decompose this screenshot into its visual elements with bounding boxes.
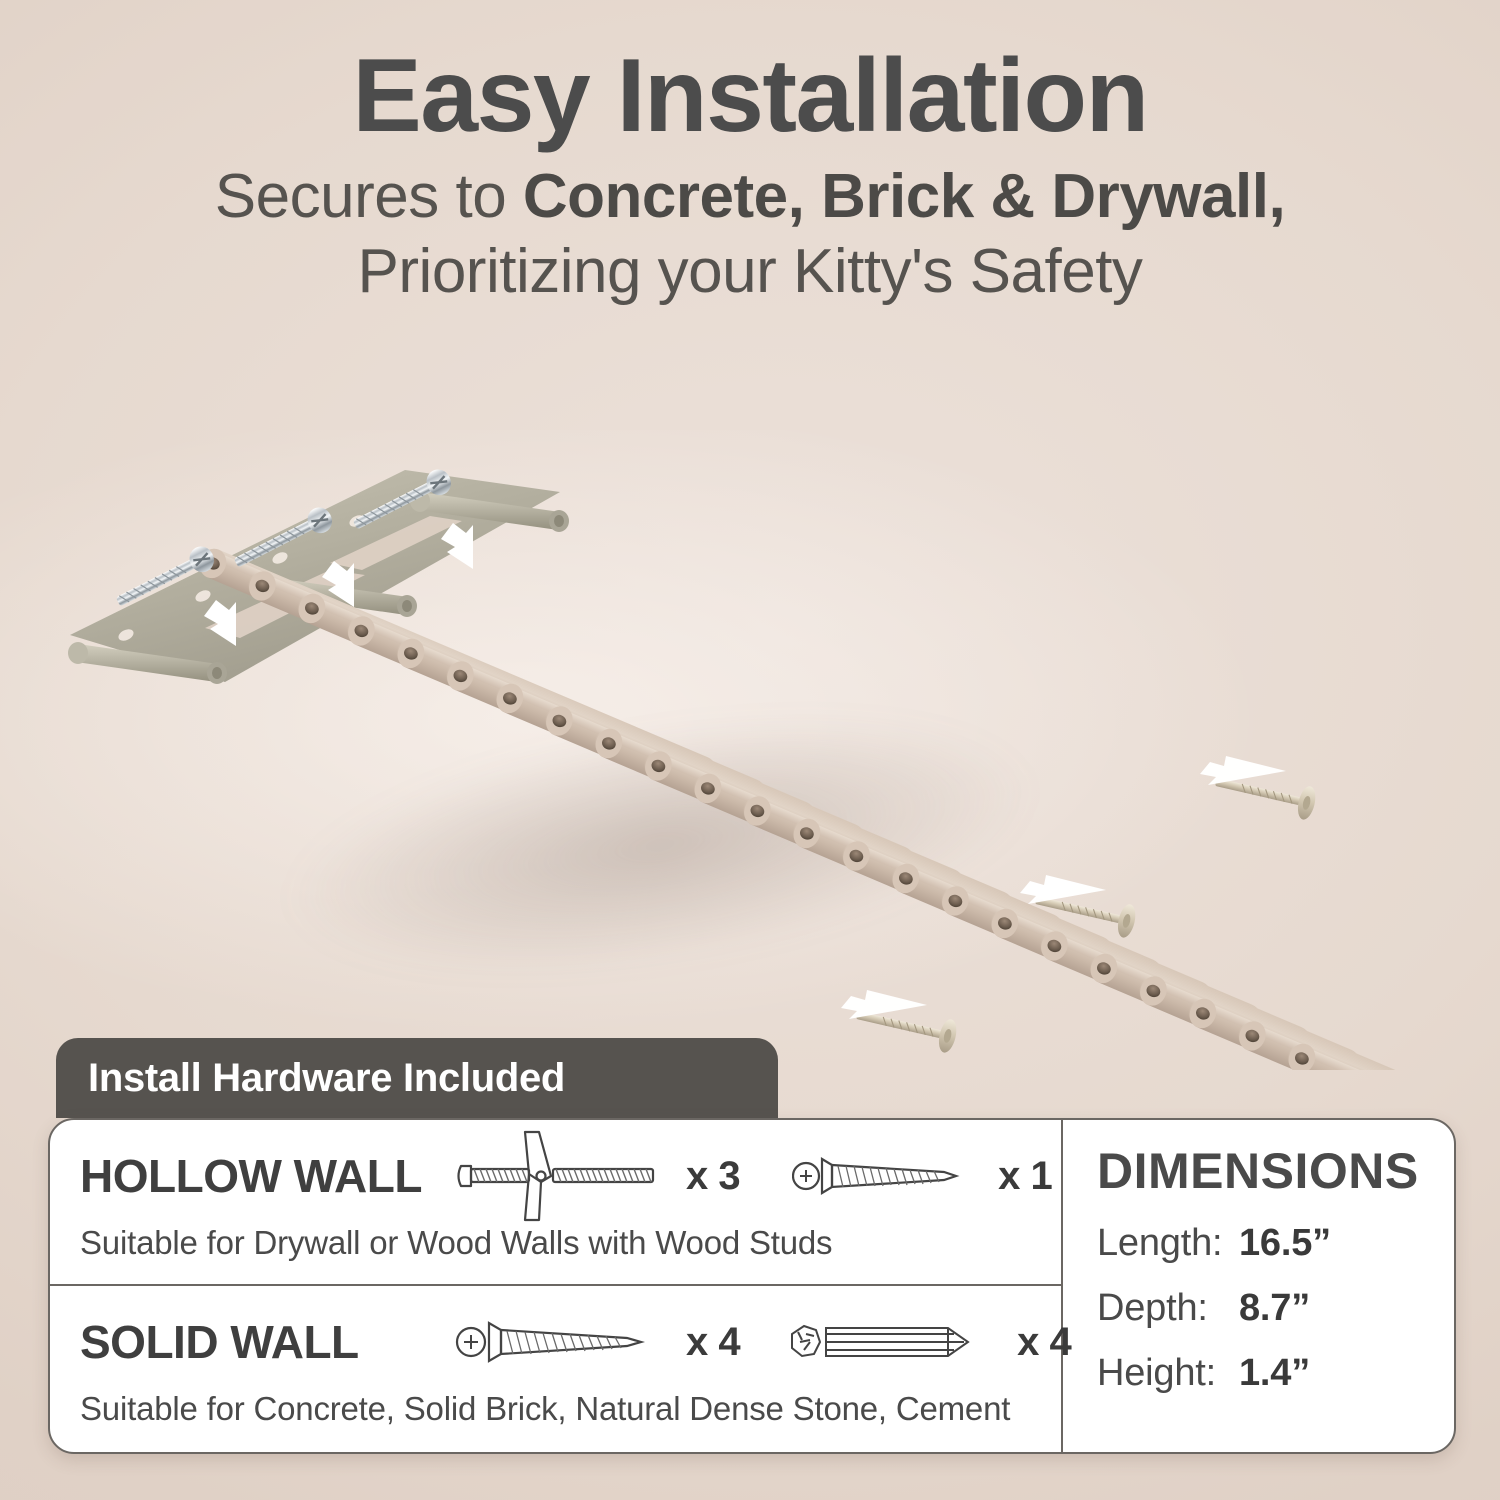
hardware-item-phillips-screw-hollow: x 1	[792, 1146, 1052, 1206]
subtitle-prefix: Secures to	[215, 162, 523, 231]
install-hardware-tab-label: Install Hardware Included	[88, 1056, 565, 1101]
install-hardware-tab: Install Hardware Included	[56, 1038, 778, 1118]
dimension-value-depth: 8.7”	[1239, 1287, 1310, 1330]
product-illustration	[0, 430, 1500, 1070]
hardware-dimensions-card: HOLLOW WALL	[48, 1118, 1456, 1454]
subtitle-emphasis: Concrete, Brick & Drywall,	[523, 162, 1285, 231]
hardware-row-hollow-wall-top: HOLLOW WALL	[80, 1140, 1061, 1212]
hardware-qty-toggle-bolt: x 3	[686, 1154, 740, 1199]
phillips-screw-icon	[792, 1146, 982, 1206]
metal-wall-bracket	[68, 470, 569, 684]
dimensions-panel: DIMENSIONS Length: 16.5” Depth: 8.7” Hei…	[1061, 1120, 1454, 1452]
headline-block: Easy Installation Secures to Concrete, B…	[0, 44, 1500, 307]
hardware-item-wall-anchor: x 4	[786, 1312, 1071, 1372]
dimension-key-length: Length:	[1097, 1222, 1239, 1265]
phillips-screw-icon	[455, 1312, 670, 1372]
hardware-row-solid-wall: SOLID WALL	[50, 1286, 1061, 1452]
wall-anchor-icon	[786, 1312, 1001, 1372]
hardware-item-phillips-screw-solid: x 4	[455, 1312, 740, 1372]
subtitle-line-1: Secures to Concrete, Brick & Drywall,	[0, 162, 1500, 231]
dimension-row-height: Height: 1.4”	[1097, 1352, 1454, 1395]
dimension-row-length: Length: 16.5”	[1097, 1222, 1454, 1265]
subtitle-line-2: Prioritizing your Kitty's Safety	[0, 237, 1500, 306]
poster-background: Easy Installation Secures to Concrete, B…	[0, 0, 1500, 1500]
dimension-value-length: 16.5”	[1239, 1222, 1331, 1265]
hardware-qty-wall-anchor: x 4	[1017, 1320, 1071, 1365]
hardware-row-hollow-wall-description: Suitable for Drywall or Wood Walls with …	[80, 1224, 1061, 1262]
hardware-row-hollow-wall-title: HOLLOW WALL	[80, 1149, 455, 1203]
shelf-assembly-svg	[0, 430, 1500, 1070]
dimension-value-height: 1.4”	[1239, 1352, 1310, 1395]
hardware-item-toggle-bolt: x 3	[455, 1130, 740, 1222]
page-title: Easy Installation	[0, 44, 1500, 148]
hardware-qty-phillips-screw-solid: x 4	[686, 1320, 740, 1365]
hardware-list: HOLLOW WALL	[50, 1120, 1061, 1452]
dimensions-title: DIMENSIONS	[1097, 1142, 1454, 1200]
toggle-bolt-icon	[455, 1130, 670, 1222]
callout-arrow-right-2	[1020, 875, 1106, 904]
hardware-row-solid-wall-top: SOLID WALL	[80, 1306, 1061, 1378]
dimension-key-depth: Depth:	[1097, 1287, 1239, 1330]
hardware-qty-phillips-screw-hollow: x 1	[998, 1154, 1052, 1199]
hardware-row-solid-wall-description: Suitable for Concrete, Solid Brick, Natu…	[80, 1390, 1061, 1428]
hardware-row-hollow-wall: HOLLOW WALL	[50, 1120, 1061, 1286]
dimension-row-depth: Depth: 8.7”	[1097, 1287, 1454, 1330]
dimension-key-height: Height:	[1097, 1352, 1239, 1395]
callout-arrow-right-3	[841, 990, 927, 1019]
callout-arrow-right-1	[1200, 756, 1286, 785]
hardware-row-solid-wall-title: SOLID WALL	[80, 1315, 455, 1369]
